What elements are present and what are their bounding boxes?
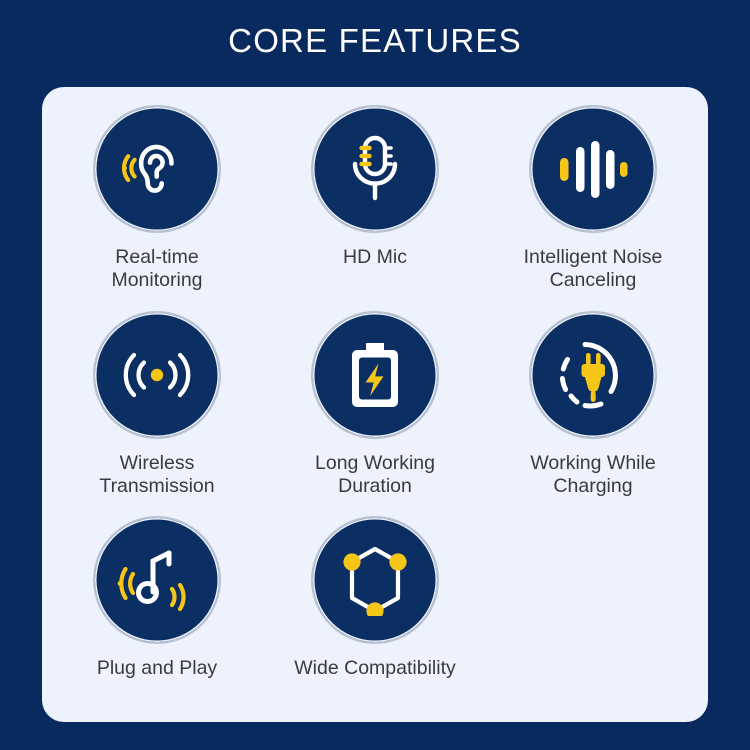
icon-circle-plug-and-play bbox=[93, 516, 221, 644]
music-note-waves-icon bbox=[117, 545, 197, 615]
audio-waveform-bars-icon bbox=[556, 138, 630, 200]
feature-plug-and-play[interactable]: Plug and Play bbox=[48, 508, 266, 714]
feature-intelligent-noise-canceling[interactable]: Intelligent Noise Canceling bbox=[484, 97, 702, 303]
page-title: CORE FEATURES bbox=[0, 22, 750, 60]
feature-label: Long Working Duration bbox=[315, 452, 435, 498]
icon-circle-wireless-transmission bbox=[93, 311, 221, 439]
hexagon-nodes-icon bbox=[340, 544, 410, 616]
feature-label: Working While Charging bbox=[530, 452, 655, 498]
ear-with-soundwaves-icon bbox=[120, 132, 194, 206]
icon-circle-hd-mic bbox=[311, 105, 439, 233]
feature-label: Real-time Monitoring bbox=[111, 246, 202, 292]
feature-label: HD Mic bbox=[343, 246, 407, 269]
wireless-signal-icon bbox=[118, 344, 196, 406]
features-card: Real-time Monitoring bbox=[42, 87, 708, 722]
power-plug-arc-icon bbox=[555, 338, 631, 412]
feature-label: Intelligent Noise Canceling bbox=[524, 246, 663, 292]
feature-working-while-charging[interactable]: Working While Charging bbox=[484, 303, 702, 509]
icon-circle-real-time-monitoring bbox=[93, 105, 221, 233]
feature-label: Wide Compatibility bbox=[294, 657, 455, 680]
icon-circle-long-working-duration bbox=[311, 311, 439, 439]
icon-circle-intelligent-noise-canceling bbox=[529, 105, 657, 233]
feature-wireless-transmission[interactable]: Wireless Transmission bbox=[48, 303, 266, 509]
feature-hd-mic[interactable]: HD Mic bbox=[266, 97, 484, 303]
feature-label: Wireless Transmission bbox=[99, 452, 214, 498]
microphone-icon bbox=[343, 133, 407, 205]
feature-label: Plug and Play bbox=[97, 657, 217, 680]
feature-wide-compatibility[interactable]: Wide Compatibility bbox=[266, 508, 484, 714]
feature-poster: CORE FEATURES bbox=[0, 0, 750, 750]
features-grid: Real-time Monitoring bbox=[42, 87, 708, 722]
icon-circle-working-while-charging bbox=[529, 311, 657, 439]
icon-circle-wide-compatibility bbox=[311, 516, 439, 644]
feature-long-working-duration[interactable]: Long Working Duration bbox=[266, 303, 484, 509]
battery-bolt-icon bbox=[344, 341, 406, 409]
feature-real-time-monitoring[interactable]: Real-time Monitoring bbox=[48, 97, 266, 303]
